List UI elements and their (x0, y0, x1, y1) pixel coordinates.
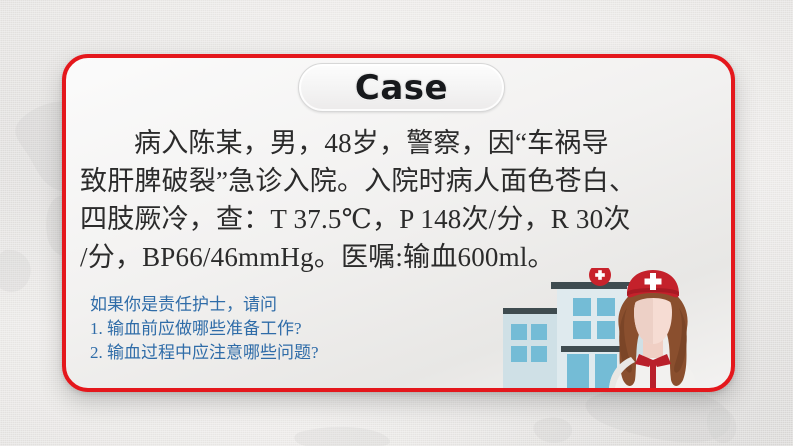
nurse-and-hospital-illustration (503, 268, 731, 388)
case-body-line: 四肢厥冷，查：T 37.5℃，P 148次/分，R 30次 (80, 200, 720, 238)
case-body-line: 病入陈某，男，48岁，警察，因“车祸导 (80, 124, 720, 162)
questions-block: 如果你是责任护士，请问 1. 输血前应做哪些准备工作? 2. 输血过程中应注意哪… (90, 293, 319, 365)
question-item: 1. 输血前应做哪些准备工作? (90, 317, 319, 341)
case-body-line: 致肝脾破裂”急诊入院。入院时病人面色苍白、 (80, 162, 720, 200)
page-title: Case (355, 71, 448, 105)
question-item: 2. 输血过程中应注意哪些问题? (90, 341, 319, 365)
slide-stage: Case 病入陈某，男，48岁，警察，因“车祸导 致肝脾破裂”急诊入院。入院时病… (0, 0, 793, 446)
case-title-pill: Case (298, 63, 505, 112)
questions-prompt: 如果你是责任护士，请问 (90, 293, 319, 317)
hospital-side-building (503, 308, 561, 388)
case-body-text: 病入陈某，男，48岁，警察，因“车祸导 致肝脾破裂”急诊入院。入院时病人面色苍白… (80, 124, 720, 276)
case-card: Case 病入陈某，男，48岁，警察，因“车祸导 致肝脾破裂”急诊入院。入院时病… (62, 54, 735, 392)
